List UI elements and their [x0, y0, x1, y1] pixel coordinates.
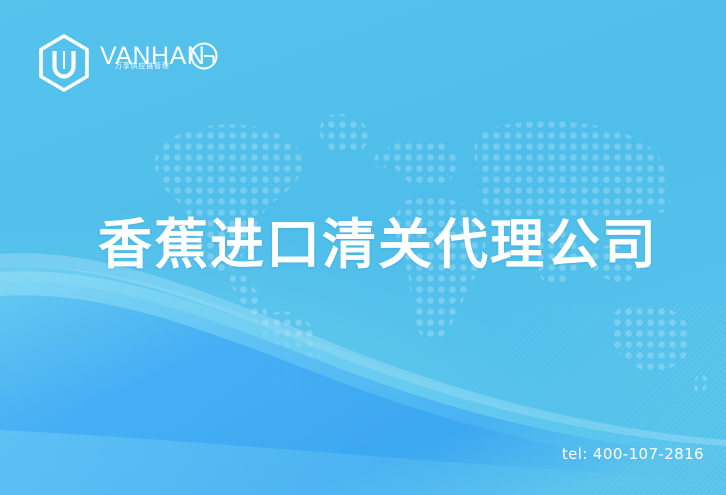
page-title: 香蕉进口清关代理公司	[98, 218, 658, 272]
promo-banner: VANHAN 万享供应链管理 香蕉进口清关代理公司 tel: 400-107-2…	[0, 0, 726, 495]
hexagon-u-logo-icon	[36, 33, 92, 93]
diagonal-hatch-texture	[396, 305, 726, 495]
brand-subtitle: 万享供应链管理	[115, 63, 170, 70]
brand-logo[interactable]: VANHAN 万享供应链管理	[36, 33, 220, 93]
contact-phone: tel: 400-107-2816	[562, 445, 704, 463]
brand-wordmark: VANHAN 万享供应链管理	[100, 40, 220, 86]
